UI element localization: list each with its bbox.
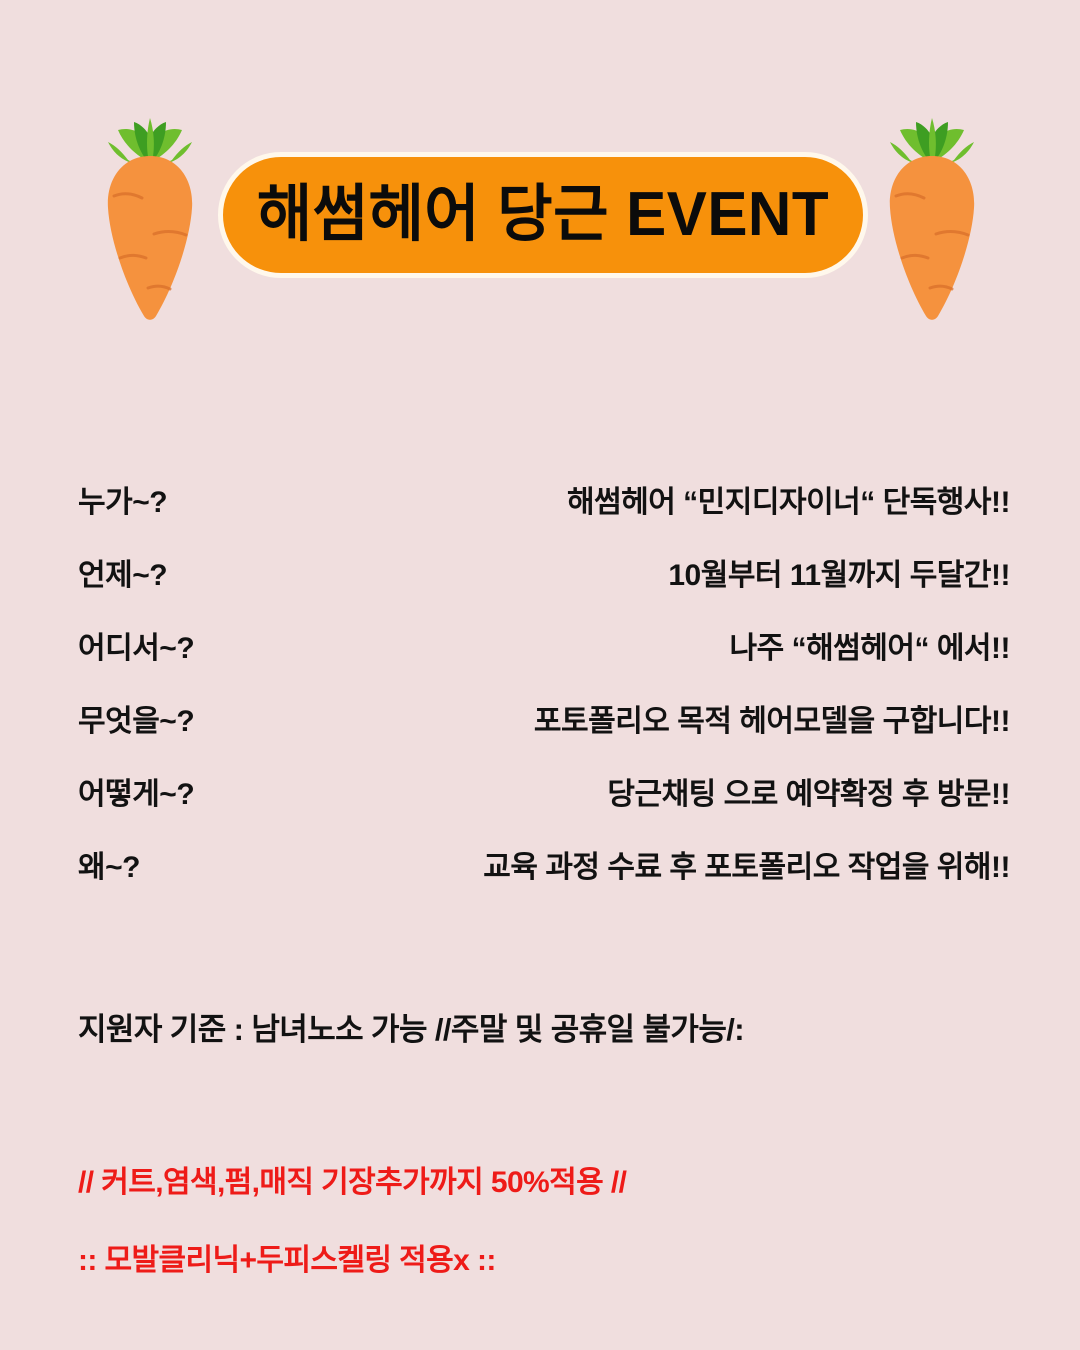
qa-label-who: 누가~? — [78, 486, 167, 519]
note-exclusions: :: 모발클리닉+두피스켈링 적용x :: — [78, 1235, 496, 1279]
note-discount: // 커트,염색,펌,매직 기장추가까지 50%적용 // — [78, 1157, 626, 1201]
carrot-icon-right — [880, 100, 984, 326]
qa-label-why: 왜~? — [78, 851, 140, 884]
qa-row-where: 어디서~? 나주 “해썸헤어“ 에서!! — [0, 632, 1080, 705]
qa-row-when: 언제~? 10월부터 11월까지 두달간!! — [0, 559, 1080, 632]
title-badge: 해썸헤어 당근 EVENT — [218, 152, 868, 278]
qa-label-where: 어디서~? — [78, 632, 194, 665]
qa-row-why: 왜~? 교육 과정 수료 후 포토폴리오 작업을 위해!! — [0, 851, 1080, 924]
carrot-icon-left — [98, 100, 202, 326]
qa-label-how: 어떻게~? — [78, 778, 194, 811]
event-poster: 해썸헤어 당근 EVENT — [0, 0, 1080, 1350]
qa-label-what: 무엇을~? — [78, 705, 194, 738]
carrot-body-left — [108, 156, 192, 320]
qa-answer-where: 나주 “해썸헤어“ 에서!! — [730, 632, 1010, 665]
qa-row-what: 무엇을~? 포토폴리오 목적 헤어모델을 구합니다!! — [0, 705, 1080, 778]
poster-header: 해썸헤어 당근 EVENT — [0, 0, 1080, 360]
qa-label-when: 언제~? — [78, 559, 167, 592]
carrot-body-right — [890, 156, 974, 320]
qa-row-how: 어떻게~? 당근채팅 으로 예약확정 후 방문!! — [0, 778, 1080, 851]
qa-answer-when: 10월부터 11월까지 두달간!! — [668, 559, 1010, 592]
qa-answer-who: 해썸헤어 “민지디자이너“ 단독행사!! — [567, 486, 1010, 519]
qa-block: 누가~? 해썸헤어 “민지디자이너“ 단독행사!! 언제~? 10월부터 11월… — [0, 486, 1080, 924]
page-title: 해썸헤어 당근 EVENT — [257, 184, 829, 246]
qa-row-who: 누가~? 해썸헤어 “민지디자이너“ 단독행사!! — [0, 486, 1080, 559]
applicant-criteria: 지원자 기준 : 남녀노소 가능 //주말 및 공휴일 불가능/: — [78, 1004, 744, 1049]
qa-answer-what: 포토폴리오 목적 헤어모델을 구합니다!! — [534, 705, 1010, 738]
qa-answer-how: 당근채팅 으로 예약확정 후 방문!! — [607, 778, 1010, 811]
qa-answer-why: 교육 과정 수료 후 포토폴리오 작업을 위해!! — [483, 851, 1010, 884]
